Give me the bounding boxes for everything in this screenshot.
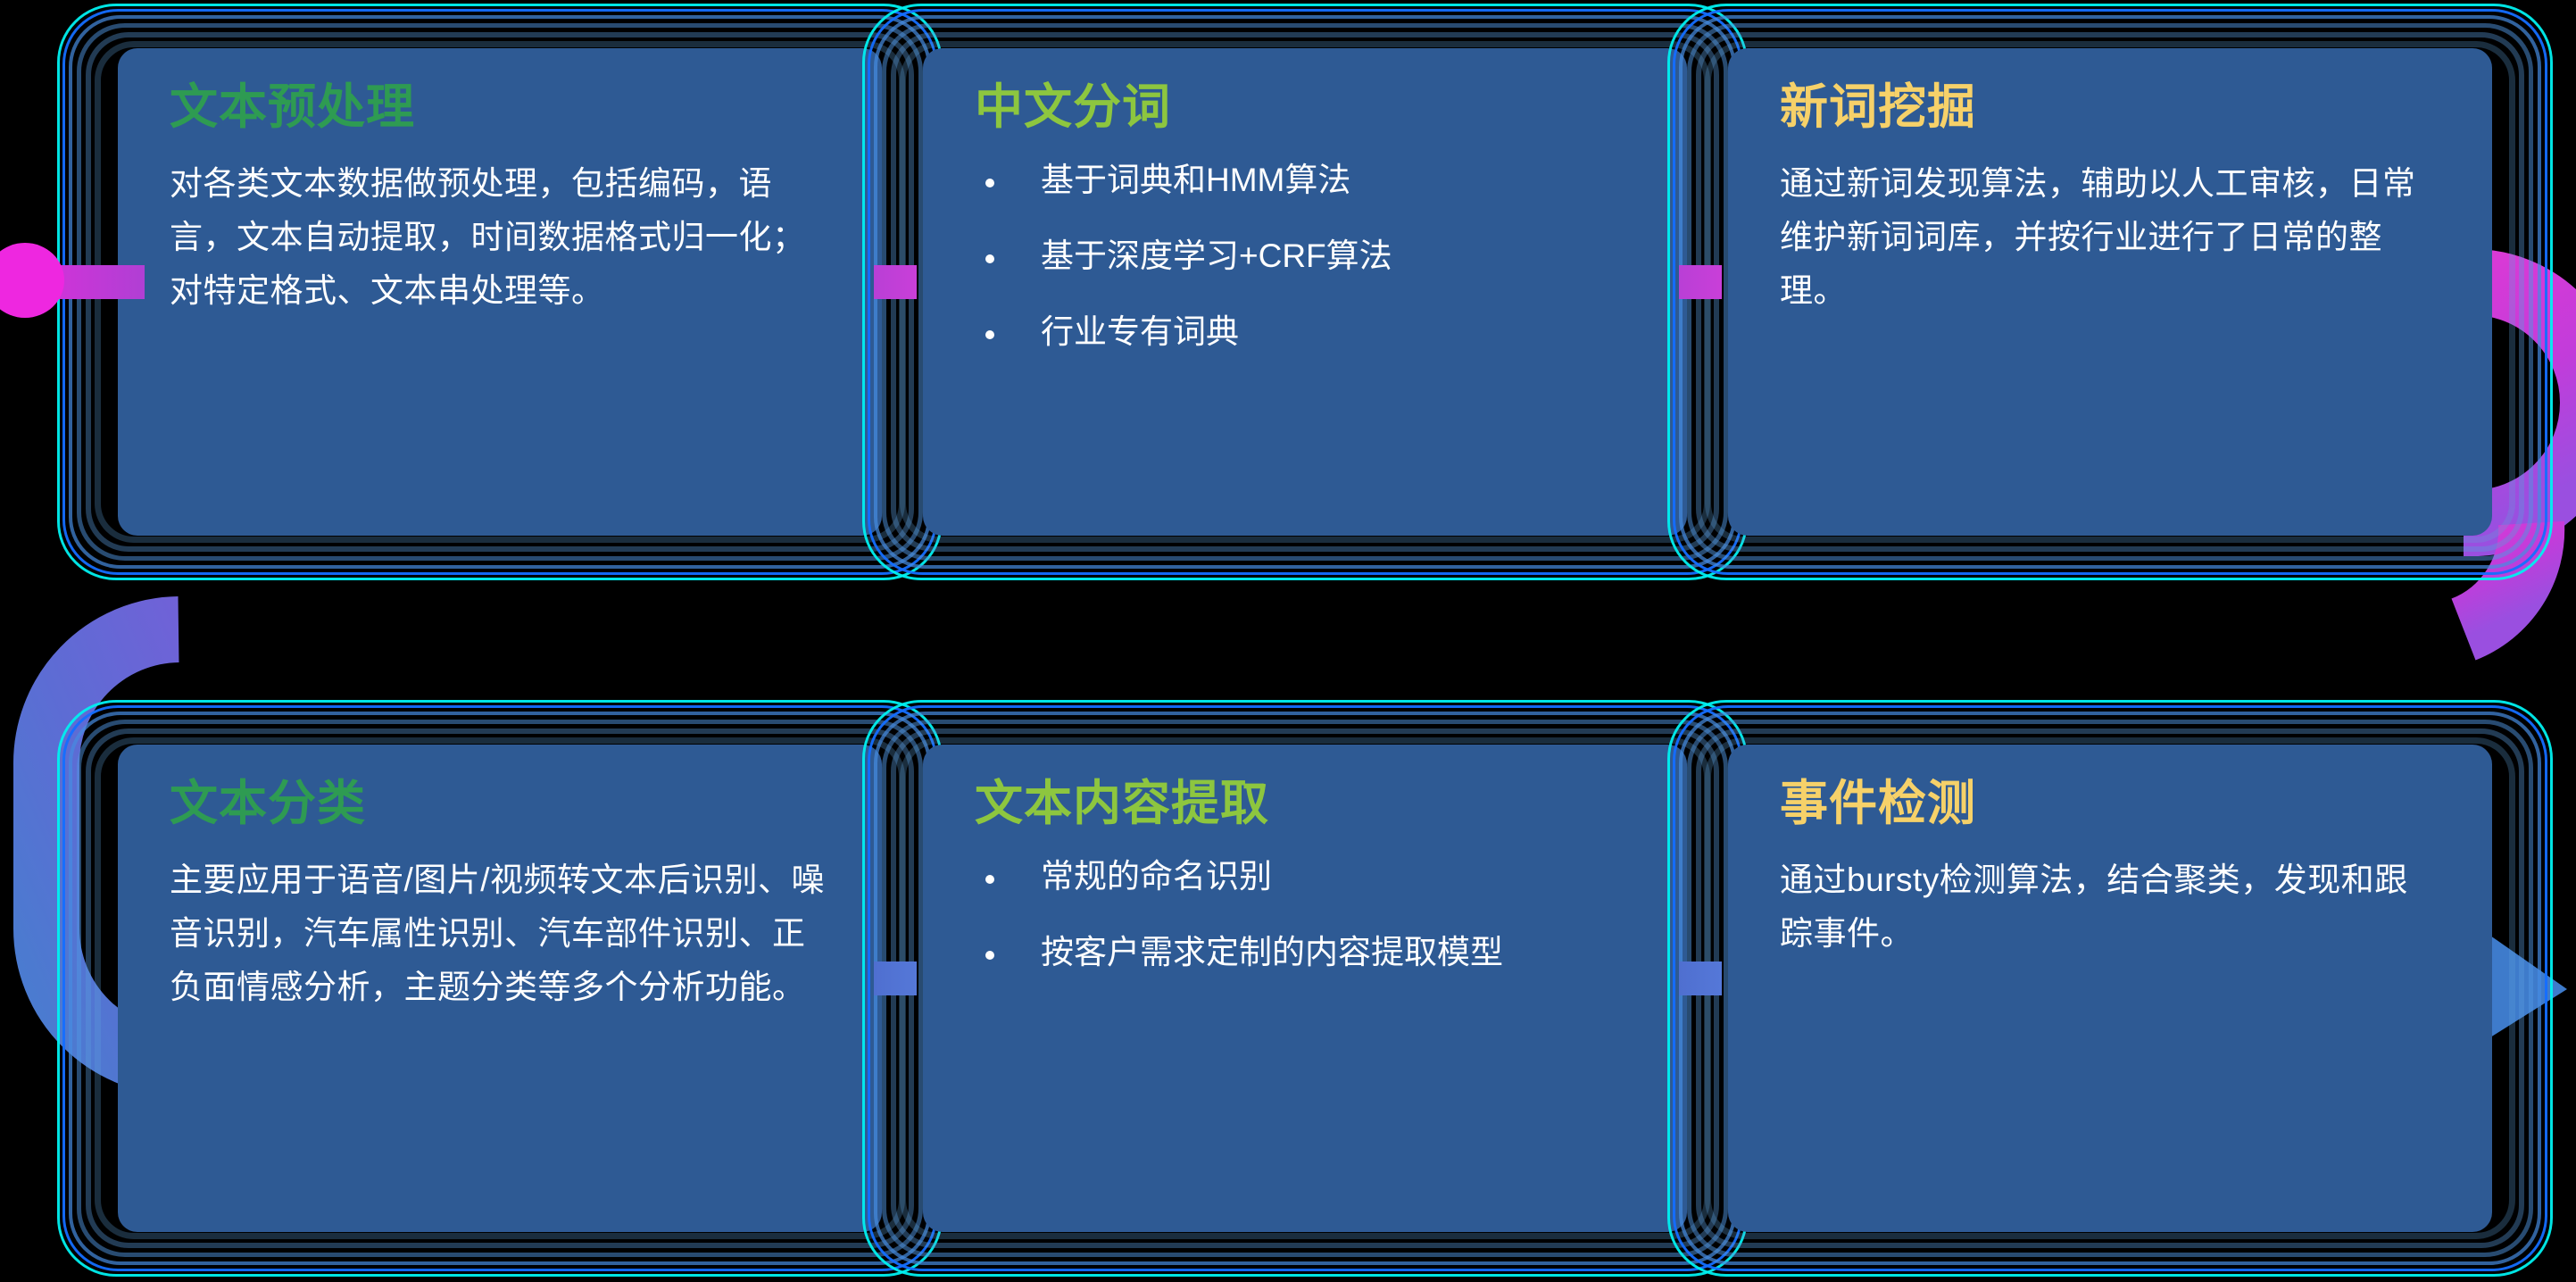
- card-chinese-word-segmentation[interactable]: 中文分词 基于词典和HMM算法 基于深度学习+CRF算法 行业专有词典: [903, 2, 1707, 582]
- list-item: 基于词典和HMM算法: [975, 157, 1635, 204]
- card-panel: 文本内容提取 常规的命名识别 按客户需求定制的内容提取模型: [923, 745, 1687, 1232]
- card-text-classification[interactable]: 文本分类 主要应用于语音/图片/视频转文本后识别、噪音识别，汽车属性识别、汽车部…: [98, 698, 902, 1278]
- flow-start-stem: [55, 265, 145, 299]
- card-panel: 新词挖掘 通过新词发现算法，辅助以人工审核，日常维护新词词库，并按行业进行了日常…: [1728, 48, 2492, 536]
- card-title: 文本内容提取: [975, 777, 1635, 830]
- list-item: 基于深度学习+CRF算法: [975, 233, 1635, 280]
- card-paragraph: 通过bursty检测算法，结合聚类，发现和跟踪事件。: [1780, 853, 2440, 961]
- card-panel: 文本预处理 对各类文本数据做预处理，包括编码，语言，文本自动提取，时间数据格式归…: [118, 48, 882, 536]
- card-paragraph: 对各类文本数据做预处理，包括编码，语言，文本自动提取，时间数据格式归一化；对特定…: [170, 157, 830, 318]
- list-item: 行业专有词典: [975, 309, 1635, 356]
- card-panel: 中文分词 基于词典和HMM算法 基于深度学习+CRF算法 行业专有词典: [923, 48, 1687, 536]
- card-event-detection[interactable]: 事件检测 通过bursty检测算法，结合聚类，发现和跟踪事件。: [1708, 698, 2512, 1278]
- card-text-content-extraction[interactable]: 文本内容提取 常规的命名识别 按客户需求定制的内容提取模型: [903, 698, 1707, 1278]
- card-bullet-list: 基于词典和HMM算法 基于深度学习+CRF算法 行业专有词典: [975, 157, 1635, 355]
- connector-nub-top-1: [874, 265, 917, 299]
- connector-nub-top-2: [1679, 265, 1722, 299]
- card-title: 中文分词: [975, 80, 1635, 134]
- card-row-top: 文本预处理 对各类文本数据做预处理，包括编码，语言，文本自动提取，时间数据格式归…: [0, 2, 2576, 582]
- card-title: 文本预处理: [170, 80, 830, 134]
- card-panel: 文本分类 主要应用于语音/图片/视频转文本后识别、噪音识别，汽车属性识别、汽车部…: [118, 745, 882, 1232]
- card-row-bottom: 文本分类 主要应用于语音/图片/视频转文本后识别、噪音识别，汽车属性识别、汽车部…: [0, 698, 2576, 1278]
- diagram-canvas: 文本预处理 对各类文本数据做预处理，包括编码，语言，文本自动提取，时间数据格式归…: [0, 0, 2576, 1278]
- connector-nub-bottom-1: [874, 961, 917, 995]
- connector-nub-bottom-2: [1679, 961, 1722, 995]
- card-text-preprocessing[interactable]: 文本预处理 对各类文本数据做预处理，包括编码，语言，文本自动提取，时间数据格式归…: [98, 2, 902, 582]
- card-paragraph: 主要应用于语音/图片/视频转文本后识别、噪音识别，汽车属性识别、汽车部件识别、正…: [170, 853, 830, 1014]
- card-new-word-mining[interactable]: 新词挖掘 通过新词发现算法，辅助以人工审核，日常维护新词词库，并按行业进行了日常…: [1708, 2, 2512, 582]
- list-item: 常规的命名识别: [975, 853, 1635, 901]
- card-title: 新词挖掘: [1780, 80, 2440, 134]
- card-title: 文本分类: [170, 777, 830, 830]
- card-paragraph: 通过新词发现算法，辅助以人工审核，日常维护新词词库，并按行业进行了日常的整理。: [1780, 157, 2440, 318]
- list-item: 按客户需求定制的内容提取模型: [975, 929, 1635, 977]
- card-panel: 事件检测 通过bursty检测算法，结合聚类，发现和跟踪事件。: [1728, 745, 2492, 1232]
- card-title: 事件检测: [1780, 777, 2440, 830]
- card-bullet-list: 常规的命名识别 按客户需求定制的内容提取模型: [975, 853, 1635, 976]
